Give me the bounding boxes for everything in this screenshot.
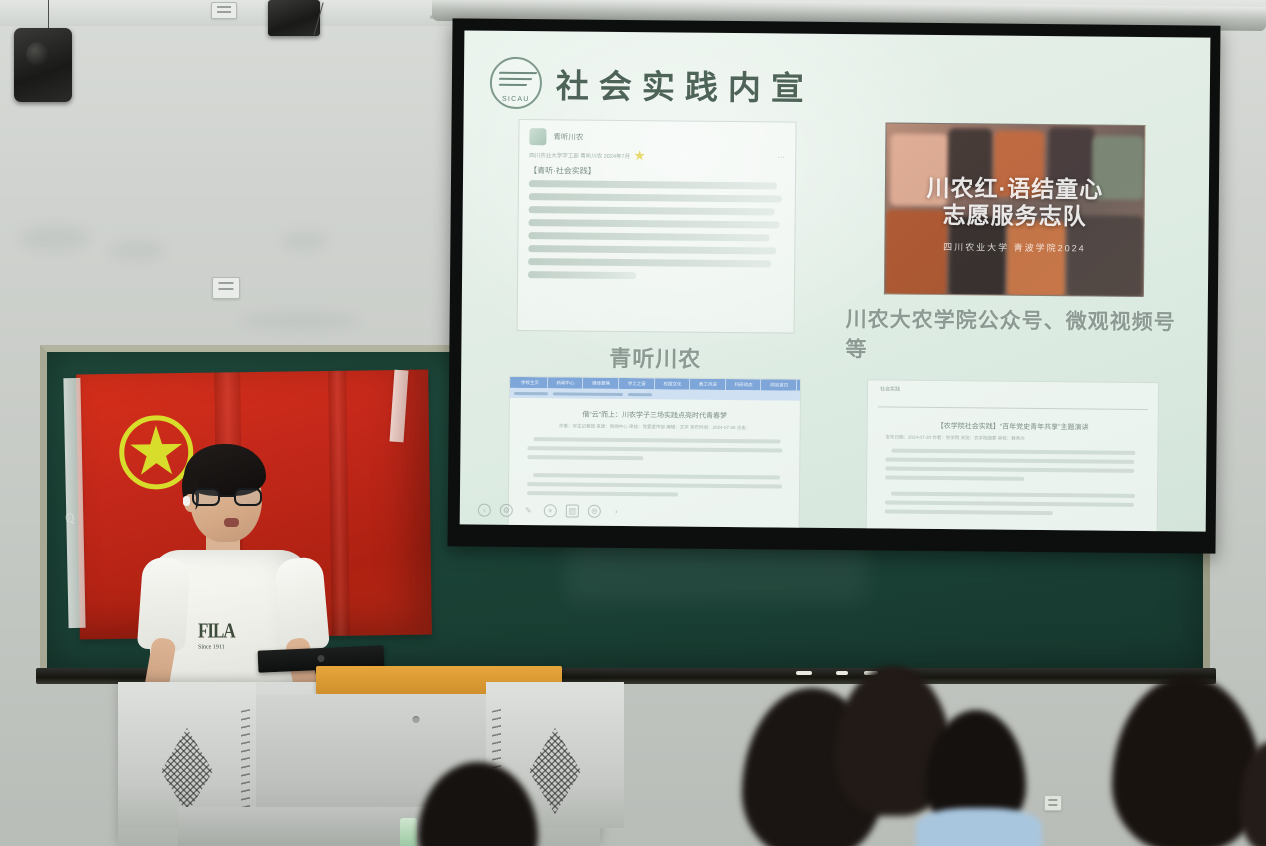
power-outlet — [212, 277, 240, 299]
wechat-bracket-title: 【青听·社会实践】 — [529, 165, 785, 178]
classroom-scene: Q SICAU 社会实践内宣 — [0, 0, 1266, 846]
projector-screen-frame: SICAU 社会实践内宣 青听川农 四川农业大学学工部 青 — [447, 18, 1220, 553]
nav-item: 新闻中心 — [549, 377, 584, 388]
wechat-header: 青听川农 — [529, 128, 785, 147]
diamond-pattern — [161, 728, 213, 814]
nav-item: 教工风采 — [691, 379, 726, 390]
slide-view-icon[interactable]: ▤ — [566, 504, 579, 517]
wechat-meta: 四川农业大学学工部 青听川农 2024年7月 ··· — [529, 149, 785, 162]
wechat-account-name: 青听川农 — [553, 131, 583, 142]
star-icon — [634, 150, 645, 161]
settings-icon[interactable]: ⚙ — [500, 504, 513, 517]
slide-title: 社会实践内宣 — [556, 59, 814, 109]
wall-smudge — [240, 312, 360, 330]
water-bottle — [400, 818, 417, 846]
more-menu-icon: ··· — [777, 152, 785, 161]
vent-slots — [241, 709, 250, 823]
audience-shirt — [916, 808, 1042, 846]
slide-grid: 青听川农 四川农业大学学工部 青听川农 2024年7月 ··· 【青听·社会实践… — [485, 119, 1183, 532]
speaker-wire — [48, 0, 49, 30]
collage-overlay-text: 川农红·语结童心 志愿服务志队 — [886, 174, 1145, 231]
wall-smudge — [20, 225, 90, 251]
article-meta: 作者：学生记者团 来源：新闻中心 审核：党委宣传部 编辑：文学 发布时间：202… — [510, 423, 800, 432]
wall-device-icon — [268, 0, 320, 36]
wall-speaker-icon — [14, 28, 72, 102]
wall-smudge — [282, 232, 328, 250]
panel-caption: 青听川农 — [609, 341, 701, 374]
panel-caption: 川农大农学院公众号、微观视频号等 — [845, 303, 1182, 366]
wechat-body: 【青听·社会实践】 — [528, 165, 785, 280]
wechat-meta-text: 四川农业大学学工部 青听川农 2024年7月 — [529, 151, 630, 160]
logo-text: SICAU — [492, 96, 540, 103]
diamond-pattern — [529, 728, 581, 814]
nav-item: 网站首页 — [762, 379, 797, 390]
nav-item: 媒体聚焦 — [584, 378, 619, 389]
more-menu-icon[interactable]: ⊜ — [588, 505, 601, 518]
article-headline: 【农学院社会实践】“百年党史青年共享”主题演讲 — [868, 420, 1158, 433]
nav-item: 学校主页 — [513, 377, 548, 388]
powerpoint-presenter-toolbar[interactable]: ‹ ⚙ ✎ ⌖ ▤ ⊜ › — [478, 504, 623, 518]
overlay-line-1: 川农红·语结童心 — [886, 174, 1144, 204]
glasses-icon — [192, 488, 262, 506]
avatar — [529, 128, 546, 145]
wall-smudge — [110, 240, 164, 260]
overlay-line-2: 志愿服务志队 — [886, 202, 1144, 232]
volunteer-photo-collage: 川农红·语结童心 志愿服务志队 四川农业大学 青波学院2024 — [884, 122, 1146, 296]
slide-content: SICAU 社会实践内宣 青听川农 四川农业大学学工部 青 — [460, 30, 1211, 531]
brand-subtext: Since 1911 — [198, 645, 254, 651]
sicau-logo-icon: SICAU — [490, 57, 542, 109]
nav-item: 科研动态 — [727, 379, 762, 390]
projected-slide: SICAU 社会实践内宣 青听川农 四川农业大学学工部 青 — [460, 30, 1211, 531]
slide-header: SICAU 社会实践内宣 — [490, 57, 1184, 116]
collage-credit: 四川农业大学 青波学院2024 — [885, 240, 1143, 255]
mouth — [224, 518, 239, 527]
nav-item: 校园文化 — [656, 378, 691, 389]
lock-knob-icon[interactable] — [413, 716, 420, 723]
college-site-screenshot: 社会实践 【农学院社会实践】“百年党史青年共享”主题演讲 发布日期：2024-0… — [865, 379, 1159, 531]
panel-college-site: 社会实践 【农学院社会实践】“百年党史青年共享”主题演讲 发布日期：2024-0… — [843, 379, 1181, 531]
earbud-icon — [183, 496, 190, 506]
laser-pointer-icon[interactable]: ⌖ — [544, 504, 557, 517]
wechat-article-screenshot: 青听川农 四川农业大学学工部 青听川农 2024年7月 ··· 【青听·社会实践… — [517, 119, 797, 334]
site-section-tag: 社会实践 — [880, 385, 1158, 395]
article-headline: 借“云”而上：川农学子三场实践点亮时代青春梦 — [510, 409, 800, 422]
power-outlet — [1044, 795, 1062, 811]
prev-slide-icon[interactable]: ‹ — [478, 504, 491, 517]
nav-item: 学工之窗 — [620, 378, 655, 389]
shirt-logo: FILA Since 1911 — [198, 619, 254, 652]
article-meta: 发布日期：2024-07-20 作者：农学院 浏览：农学院团委 审核：教务办 — [886, 435, 1158, 444]
power-outlet — [211, 2, 237, 19]
next-slide-icon[interactable]: › — [610, 505, 623, 518]
pen-icon[interactable]: ✎ — [522, 504, 535, 517]
panel-collage: 川农红·语结童心 志愿服务志队 四川农业大学 青波学院2024 川农大农学院公众… — [845, 122, 1183, 378]
brand-text: FILA — [198, 619, 235, 643]
panel-wechat: 青听川农 四川农业大学学工部 青听川农 2024年7月 ··· 【青听·社会实践… — [487, 119, 825, 375]
